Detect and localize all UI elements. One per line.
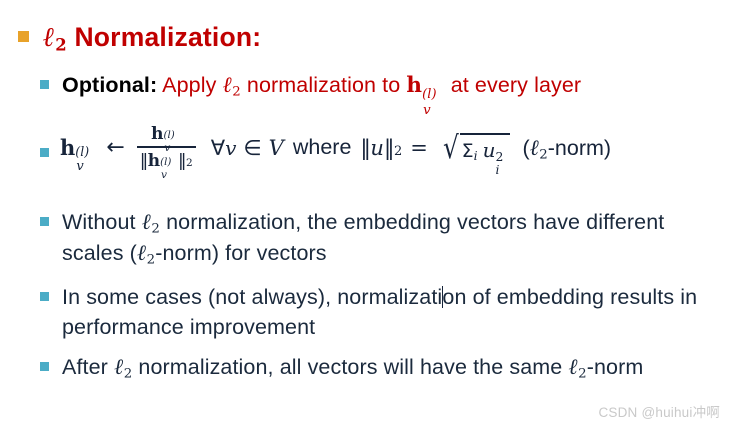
- norm-bar-close-u: ‖: [384, 136, 394, 160]
- ell-subscript-optional: 2: [232, 84, 241, 99]
- title-row: ℓ2 Normalization:: [18, 20, 708, 55]
- ell-subscript-after-norm-2: 2: [578, 366, 587, 381]
- bullet-marker-level1: [18, 31, 29, 42]
- bullet-text-after-norm: After ℓ2 normalization, all vectors will…: [62, 352, 700, 383]
- bullet-row-after-norm: After ℓ2 normalization, all vectors will…: [40, 352, 700, 383]
- numerator-sup: (l): [163, 130, 174, 141]
- bullet-row-optional: Optional: Apply ℓ2 normalization to h(l)…: [40, 70, 720, 101]
- norm-bar-open-denominator: ‖: [140, 151, 148, 171]
- numerator-base: h: [151, 124, 163, 144]
- ell-symbol-title: ℓ: [43, 22, 55, 53]
- set-symbol: V: [269, 136, 284, 160]
- radicand: Σiui2: [460, 133, 511, 162]
- radical-icon: √: [443, 136, 459, 162]
- where-text: where: [293, 135, 352, 160]
- bullet-text-some-cases[interactable]: In some cases (not always), normalizatio…: [62, 282, 720, 342]
- optional-label: Optional:: [62, 73, 157, 97]
- quantifier-variable: v: [225, 136, 236, 160]
- vector-h-base-optional: h: [406, 73, 422, 98]
- norm-bar-open-u: ‖: [360, 136, 370, 160]
- normalization-formula: h(l)v ← h(l)v ‖h(l)v‖2 ∀v ∈ V where ‖u‖2…: [60, 124, 611, 171]
- forall-icon: ∀: [211, 136, 225, 160]
- formula-fraction: h(l)v ‖h(l)v‖2: [137, 124, 196, 171]
- after-norm-part1: After: [62, 355, 114, 379]
- ell2-norm-tail: (ℓ2-norm): [522, 135, 611, 161]
- ell-symbol-after-norm: ℓ: [114, 355, 124, 380]
- bullet-row-some-cases[interactable]: In some cases (not always), normalizatio…: [40, 282, 720, 342]
- bullet-marker-some-cases: [40, 292, 49, 301]
- without-norm-part3: -norm) for vectors: [155, 241, 326, 265]
- watermark: CSDN @huihui冲啊: [598, 401, 720, 421]
- equals-sign: =: [410, 136, 428, 160]
- vector-h-optional: h(l)v: [406, 71, 444, 101]
- assignment-arrow-icon: ←: [106, 135, 124, 160]
- norm-bar-close-denominator: ‖: [178, 151, 186, 171]
- denominator-sub: v: [161, 169, 167, 181]
- some-cases-part1: In some cases (not always), normalizati: [62, 285, 442, 309]
- bullet-marker-after-norm: [40, 362, 49, 371]
- page-title: ℓ2 Normalization:: [43, 20, 261, 55]
- optional-part3: at every layer: [445, 73, 582, 97]
- ell-subscript-title: 2: [55, 35, 67, 54]
- sum-variable-superscript: 2: [495, 149, 503, 164]
- sum-variable: u: [483, 138, 496, 162]
- bullet-row-formula: [40, 138, 60, 157]
- tail-paren-open: (: [522, 136, 529, 160]
- formula-lhs-vector: h(l)v: [60, 135, 97, 160]
- slide-canvas: ℓ2 Normalization: Optional: Apply ℓ2 nor…: [0, 0, 733, 429]
- ell-subscript-without-norm: 2: [151, 221, 160, 236]
- summation-icon: Σ: [462, 140, 474, 162]
- formula-lhs-sub: v: [76, 159, 83, 174]
- after-norm-part2: normalization, all vectors will have the…: [132, 355, 568, 379]
- numerator-vector: h(l)v: [151, 124, 181, 144]
- without-norm-part1: Without: [62, 210, 142, 234]
- vector-h-sub-optional: v: [423, 96, 431, 126]
- summation-index: i: [474, 148, 478, 163]
- fraction-numerator: h(l)v: [148, 124, 184, 146]
- bullet-marker-without-norm: [40, 217, 49, 226]
- tail-text: -norm): [548, 136, 611, 160]
- denominator-vector: h(l)v: [148, 151, 178, 171]
- ell-symbol-without-norm: ℓ: [142, 210, 152, 235]
- ell-symbol-optional: ℓ: [223, 73, 233, 98]
- after-norm-part3: -norm: [587, 355, 644, 379]
- optional-part2: normalization to: [241, 73, 407, 97]
- element-of-icon: ∈: [243, 136, 261, 160]
- bullet-marker-formula: [40, 148, 49, 157]
- bullet-text-without-norm: Without ℓ2 normalization, the embedding …: [62, 207, 715, 269]
- ell-symbol-tail: ℓ: [530, 136, 540, 161]
- denominator-base: h: [148, 151, 160, 171]
- ell-symbol-after-norm-2: ℓ: [568, 355, 578, 380]
- sum-variable-subscript: i: [495, 162, 499, 177]
- denominator-sup: (l): [160, 157, 171, 168]
- optional-part1: Apply: [157, 73, 222, 97]
- formula-lhs-base: h: [60, 135, 75, 160]
- norm-u-expression: ‖u‖2: [360, 136, 402, 160]
- ell-subscript-tail: 2: [539, 147, 547, 162]
- bullet-text-optional: Optional: Apply ℓ2 normalization to h(l)…: [62, 70, 720, 101]
- bullet-marker-optional: [40, 80, 49, 89]
- norm-variable-u: u: [370, 136, 384, 160]
- fraction-denominator: ‖h(l)v‖2: [137, 148, 196, 171]
- ell-subscript-without-norm-2: 2: [147, 252, 156, 267]
- ell-symbol-without-norm-2: ℓ: [137, 241, 147, 266]
- bullet-row-without-norm: Without ℓ2 normalization, the embedding …: [40, 207, 715, 269]
- formula-lhs-sup: (l): [75, 144, 89, 159]
- title-text: Normalization:: [67, 22, 261, 52]
- square-root-expression: √ Σiui2: [441, 133, 511, 162]
